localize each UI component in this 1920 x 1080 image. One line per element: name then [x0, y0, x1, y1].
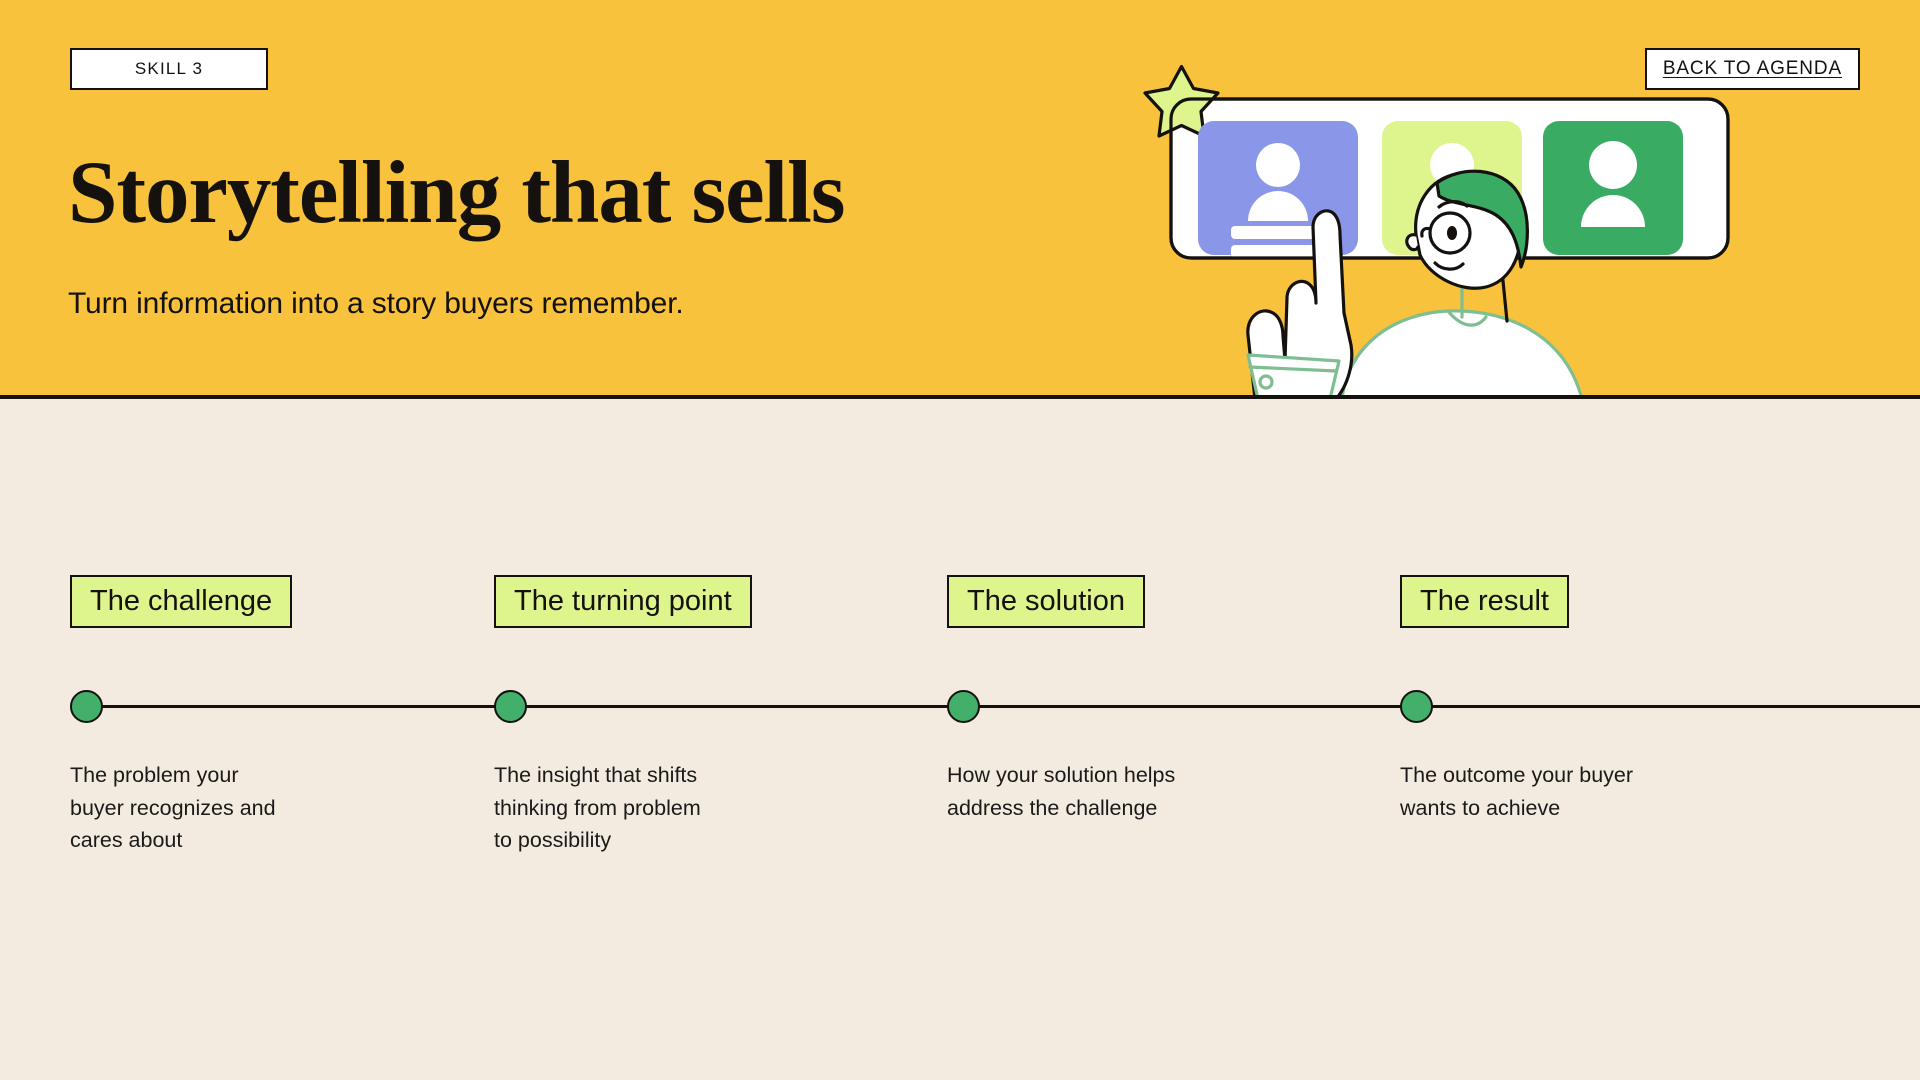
timeline-description-solution: How your solution helps address the chal… — [947, 759, 1207, 824]
timeline-label-turning-point[interactable]: The turning point — [494, 575, 752, 628]
timeline-label-challenge[interactable]: The challenge — [70, 575, 292, 628]
timeline-dot-challenge[interactable] — [70, 690, 103, 723]
timeline-dot-result[interactable] — [1400, 690, 1433, 723]
skill-badge-label: SKILL 3 — [135, 59, 203, 79]
timeline-dot-solution[interactable] — [947, 690, 980, 723]
slide-page: SKILL 3 BACK TO AGENDA Storytelling that… — [0, 0, 1920, 1080]
page-subtitle: Turn information into a story buyers rem… — [68, 287, 684, 321]
timeline-description-challenge: The problem your buyer recognizes and ca… — [70, 759, 330, 857]
timeline-description-result: The outcome your buyer wants to achieve — [1400, 759, 1660, 824]
timeline-section: The challenge The problem your buyer rec… — [0, 399, 1920, 1080]
header-banner: SKILL 3 BACK TO AGENDA Storytelling that… — [0, 0, 1920, 399]
skill-badge: SKILL 3 — [70, 48, 268, 90]
timeline-dot-turning-point[interactable] — [494, 690, 527, 723]
timeline-description-turning-point: The insight that shifts thinking from pr… — [494, 759, 754, 857]
hero-illustration — [1130, 55, 1770, 399]
profile-card-3 — [1543, 121, 1683, 255]
timeline-axis-line — [88, 705, 1920, 708]
timeline-label-solution[interactable]: The solution — [947, 575, 1145, 628]
timeline-label-result[interactable]: The result — [1400, 575, 1569, 628]
page-title: Storytelling that sells — [68, 148, 844, 239]
